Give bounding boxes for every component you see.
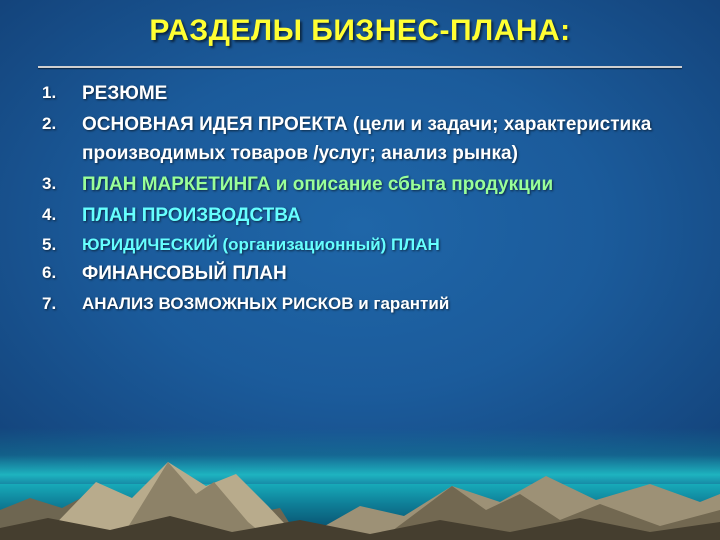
list-item-label: АНАЛИЗ ВОЗМОЖНЫХ РИСКОВ и гарантий — [82, 291, 694, 317]
list-item-number: 5. — [34, 232, 82, 258]
list-item: 7. АНАЛИЗ ВОЗМОЖНЫХ РИСКОВ и гарантий — [34, 291, 694, 317]
sections-list: 1. РЕЗЮМЕ 2. ОСНОВНАЯ ИДЕЯ ПРОЕКТА (цели… — [34, 80, 694, 319]
list-item: 4. ПЛАН ПРОИЗВОДСТВА — [34, 202, 694, 231]
list-item: 1. РЕЗЮМЕ — [34, 80, 694, 109]
list-item-number: 7. — [34, 291, 82, 317]
page-title: РАЗДЕЛЫ БИЗНЕС-ПЛАНА: — [0, 14, 720, 48]
list-item: 2. ОСНОВНАЯ ИДЕЯ ПРОЕКТА (цели и задачи;… — [34, 111, 694, 169]
list-item-label: ПЛАН ПРОИЗВОДСТВА — [82, 202, 694, 231]
list-item-number: 6. — [34, 260, 82, 286]
list-item-label: ФИНАНСОВЫЙ ПЛАН — [82, 260, 694, 289]
list-item: 3. ПЛАН МАРКЕТИНГА и описание сбыта прод… — [34, 171, 694, 200]
list-item-label: РЕЗЮМЕ — [82, 80, 694, 109]
list-item-label: ПЛАН МАРКЕТИНГА и описание сбыта продукц… — [82, 171, 694, 200]
title-divider — [38, 66, 682, 68]
list-item-number: 1. — [34, 80, 82, 106]
list-item-label: ОСНОВНАЯ ИДЕЯ ПРОЕКТА (цели и задачи; ха… — [82, 111, 694, 169]
list-item-number: 2. — [34, 111, 82, 137]
list-item-number: 3. — [34, 171, 82, 197]
slide-canvas: РАЗДЕЛЫ БИЗНЕС-ПЛАНА: 1. РЕЗЮМЕ 2. ОСНОВ… — [0, 0, 720, 540]
mountain-range-illustration — [0, 390, 720, 540]
list-item: 5. ЮРИДИЧЕСКИЙ (организационный) ПЛАН — [34, 232, 694, 258]
list-item: 6. ФИНАНСОВЫЙ ПЛАН — [34, 260, 694, 289]
list-item-number: 4. — [34, 202, 82, 228]
list-item-label: ЮРИДИЧЕСКИЙ (организационный) ПЛАН — [82, 232, 694, 258]
